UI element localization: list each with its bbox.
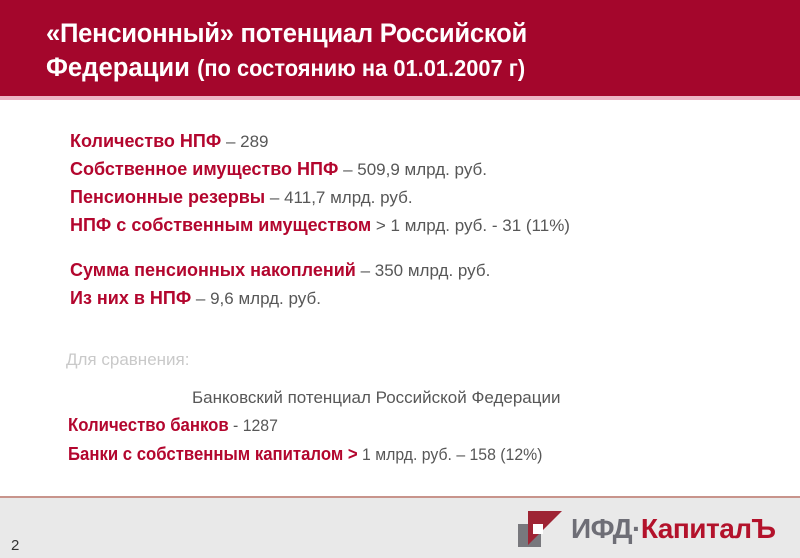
logo-text-ifd: ИФД· [571,513,641,544]
stat-value: - 1287 [229,416,278,435]
stat-label: Количество банков [68,415,229,435]
stat-value: 1 млрд. руб. – 158 (12%) [358,445,543,464]
list-item: Собственное имущество НПФ – 509,9 млрд. … [70,156,790,184]
stat-label: Банки с собственным капиталом > [68,444,358,464]
stat-value: > 1 млрд. руб. - 31 (11%) [371,216,570,235]
logo-wordmark: ИФД·КапиталЪ [571,514,775,544]
logo-mark-icon [518,511,562,547]
stat-value: – 411,7 млрд. руб. [265,188,412,207]
page-number: 2 [11,537,19,555]
stat-value: – 289 [221,132,268,151]
title-line-2-date: (по состоянию на 01.01.2007 г) [197,55,525,81]
logo-text-kapital: КапиталЪ [641,513,776,544]
logo-notch-shape [533,524,543,534]
stat-label: Сумма пенсионных накоплений [70,260,356,280]
stat-value: – 9,6 млрд. руб. [191,289,321,308]
stat-value: – 509,9 млрд. руб. [338,160,487,179]
list-item: Банки с собственным капиталом > 1 млрд. … [68,442,542,468]
comparison-label: Для сравнения: [66,348,189,372]
list-item: Из них в НПФ – 9,6 млрд. руб. [70,285,790,313]
company-logo: ИФД·КапиталЪ [518,509,775,549]
slide-title: «Пенсионный» потенциал Российской Федера… [46,16,766,89]
list-item: Сумма пенсионных накоплений – 350 млрд. … [70,257,790,285]
title-line-1: «Пенсионный» потенциал Российской [46,16,730,50]
title-line-2: Федерации (по состоянию на 01.01.2007 г) [46,50,730,89]
title-line-2-main: Федерации [46,52,197,82]
header-separator-rule [0,96,800,100]
list-item: Количество НПФ – 289 [70,128,790,156]
list-item: Количество банков - 1287 [68,413,278,439]
stat-label: Из них в НПФ [70,288,191,308]
stat-value: – 350 млрд. руб. [356,261,490,280]
list-item: Пенсионные резервы – 411,7 млрд. руб. [70,184,790,212]
stat-label: Собственное имущество НПФ [70,159,338,179]
stat-label: Пенсионные резервы [70,187,265,207]
list-item: НПФ с собственным имуществом > 1 млрд. р… [70,212,790,240]
pension-stats-list: Количество НПФ – 289 Собственное имущест… [70,128,790,240]
stat-label: Количество НПФ [70,131,221,151]
comparison-subtitle: Банковский потенциал Российской Федераци… [192,386,561,410]
savings-stats-list: Сумма пенсионных накоплений – 350 млрд. … [70,257,790,313]
stat-label: НПФ с собственным имуществом [70,215,371,235]
